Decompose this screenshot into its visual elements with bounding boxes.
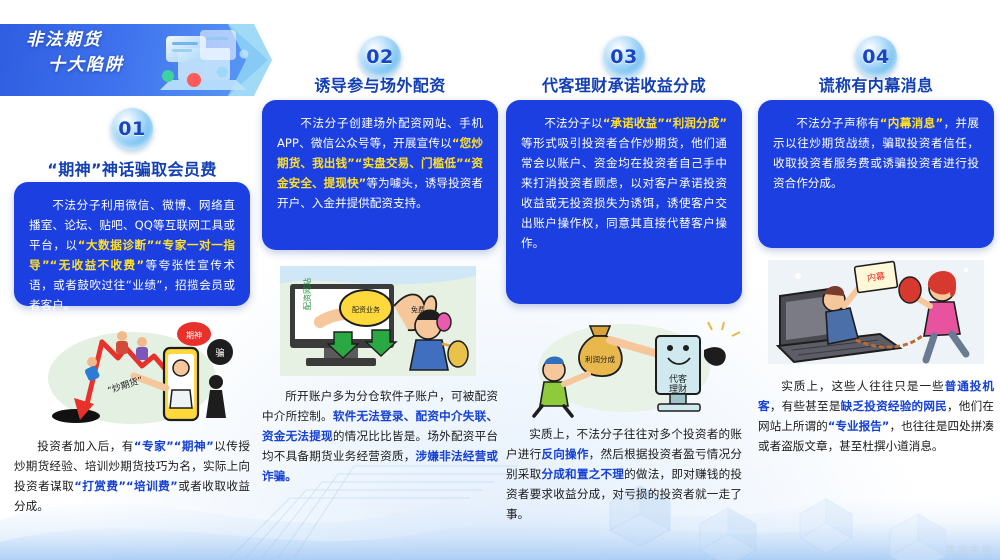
column-02: 02 诱导参与场外配资 不法分子创建场外配资网站、手机APP、微信公众号等，开展… <box>262 0 498 560</box>
laptop-inside-news-cartoon-icon: 内幕 <box>758 256 994 368</box>
body-part: 不法分子声称有 <box>796 116 880 130</box>
step-body-text-01: 不法分子利用微信、微博、网络直播室、论坛、贴吧、QQ等互联网工具或平台，以“大数… <box>29 195 235 315</box>
step-heading-02: 诱导参与场外配资 <box>262 72 498 96</box>
step-number-03: 03 <box>610 46 637 68</box>
step-footer-02: 所开账户多为分仓软件子账户，可被配资中介所控制。软件无法登录、配资中介失联、资金… <box>262 386 498 486</box>
svg-text:利润分成: 利润分成 <box>585 354 615 364</box>
watermark: 视觉中国 <box>946 543 994 556</box>
foot-part: 实质上，这些人往往只是一些 <box>781 379 944 393</box>
illustration-02: 配资网站 配资业务 免费 <box>262 262 498 380</box>
banner-title-line2: 十大陷阱 <box>26 53 176 78</box>
foot-part-highlight: 缺乏投资经验的网民 <box>841 399 947 413</box>
step-footer-03: 实质上，不法分子往往对多个投资者的账户进行反向操作，然后根据投资者盈亏情况分别采… <box>506 424 742 524</box>
foot-part-highlight: 分成和置之不理 <box>541 467 624 481</box>
step-body-text-03: 不法分子以“承诺收益”“利润分成”等形式吸引投资者合作炒期货，他们通常会以账户、… <box>521 113 727 253</box>
svg-text:代客: 代客 <box>669 373 687 385</box>
foot-part-highlight: “专家”“期神” <box>134 439 214 453</box>
svg-text:理财: 理财 <box>669 383 687 395</box>
step-heading-01: “期神”神话骗取会员费 <box>14 156 250 180</box>
body-part-highlight: “内幕消息” <box>880 116 943 130</box>
step-heading-04: 谎称有内幕消息 <box>758 72 994 96</box>
monitor-money-bag-cartoon-icon: 配资网站 配资业务 免费 <box>262 262 498 380</box>
step-footer-text-04: 实质上，这些人往往只是一些普通投机客，有些甚至是缺乏投资经验的网民，他们在网站上… <box>758 376 994 456</box>
svg-text:期神: 期神 <box>186 330 202 340</box>
falling-chart-cartoon-icon: 期神 骗 “炒期货” <box>14 318 250 430</box>
foot-part: 投资者加入后，有 <box>37 439 134 453</box>
illustration-04: 内幕 <box>758 256 994 368</box>
svg-text:配资业务: 配资业务 <box>352 305 380 314</box>
step-body-box-02: 不法分子创建场外配资网站、手机APP、微信公众号等，开展宣传以“您炒期货、我出钱… <box>262 100 498 250</box>
money-bag-handover-cartoon-icon: 利润分成 代客 理财 <box>506 312 742 418</box>
step-body-text-04: 不法分子声称有“内幕消息”，并展示以往炒期货战绩，骗取投资者信任，收取投资者服务… <box>773 113 979 193</box>
foot-part-highlight: “专业报告” <box>828 419 890 433</box>
step-footer-text-03: 实质上，不法分子往往对多个投资者的账户进行反向操作，然后根据投资者盈亏情况分别采… <box>506 424 742 524</box>
foot-part-highlight: “打赏费”“培训费” <box>74 479 178 493</box>
illustration-01: 期神 骗 “炒期货” <box>14 318 250 430</box>
step-number-01: 01 <box>118 118 145 140</box>
step-body-box-04: 不法分子声称有“内幕消息”，并展示以往炒期货战绩，骗取投资者信任，收取投资者服务… <box>758 100 994 248</box>
svg-text:骗: 骗 <box>215 347 224 359</box>
illustration-03: 利润分成 代客 理财 <box>506 312 742 418</box>
step-heading-03: 代客理财承诺收益分成 <box>506 72 742 96</box>
column-03: 03 代客理财承诺收益分成 不法分子以“承诺收益”“利润分成”等形式吸引投资者合… <box>506 0 742 560</box>
svg-text:配资网站: 配资网站 <box>302 278 312 310</box>
step-footer-01: 投资者加入后，有“专家”“期神”以传授炒期货经验、培训炒期货技巧为名，实际上向投… <box>14 436 250 516</box>
step-body-text-02: 不法分子创建场外配资网站、手机APP、微信公众号等，开展宣传以“您炒期货、我出钱… <box>277 113 483 213</box>
step-footer-text-01: 投资者加入后，有“专家”“期神”以传授炒期货经验、培训炒期货技巧为名，实际上向投… <box>14 436 250 516</box>
step-body-box-03: 不法分子以“承诺收益”“利润分成”等形式吸引投资者合作炒期货，他们通常会以账户、… <box>506 100 742 304</box>
step-badge-01: 01 <box>111 108 153 150</box>
banner-title: 非法期货 十大陷阱 <box>26 28 176 78</box>
step-body-box-01: 不法分子利用微信、微博、网络直播室、论坛、贴吧、QQ等互联网工具或平台，以“大数… <box>14 182 250 306</box>
column-04: 04 谎称有内幕消息 不法分子声称有“内幕消息”，并展示以往炒期货战绩，骗取投资… <box>758 0 994 560</box>
body-part: 等形式吸引投资者合作炒期货，他们通常会以账户、资金均在投资者自己手中来打消投资者… <box>521 136 727 250</box>
step-footer-04: 实质上，这些人往往只是一些普通投机客，有些甚至是缺乏投资经验的网民，他们在网站上… <box>758 376 994 456</box>
foot-part-highlight: 反向操作 <box>541 447 588 461</box>
banner-title-line1: 非法期货 <box>26 30 102 50</box>
step-footer-text-02: 所开账户多为分仓软件子账户，可被配资中介所控制。软件无法登录、配资中介失联、资金… <box>262 386 498 486</box>
body-part: 不法分子以 <box>544 116 603 130</box>
step-number-04: 04 <box>862 46 889 68</box>
foot-part: ，有些甚至是 <box>770 399 841 413</box>
step-number-02: 02 <box>366 46 393 68</box>
body-part-highlight: “承诺收益”“利润分成” <box>603 116 727 130</box>
